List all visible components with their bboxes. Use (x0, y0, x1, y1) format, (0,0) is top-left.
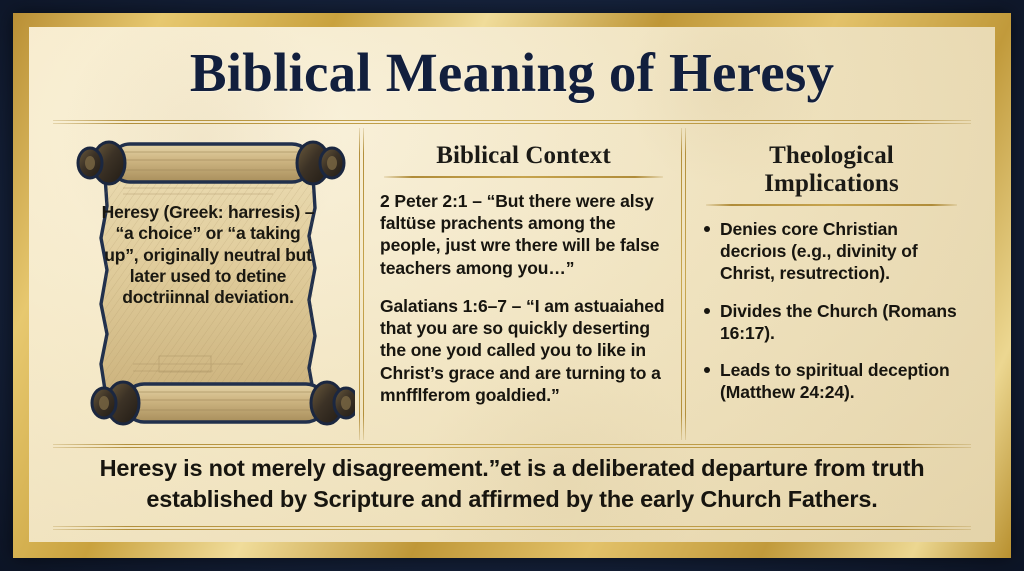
passage-2-peter: 2 Peter 2:1 – “But there were alsy faltü… (380, 190, 667, 279)
footer-summary: Heresy is not merely disagreement.”et is… (75, 453, 949, 515)
bullet-dot-icon (704, 367, 710, 373)
footer-line-1: Heresy is not merely disagreement.”et is… (75, 453, 949, 484)
theological-implications-heading-rule (706, 204, 957, 206)
divider-above-footer (53, 444, 971, 448)
list-item: Leads to spiritual deception (Matthew 24… (702, 359, 961, 403)
footer-line-2: established by Scripture and affirmed by… (75, 484, 949, 515)
list-item-label: Divides the Church (Romans 16:17). (720, 301, 957, 343)
divider-below-footer (53, 526, 971, 530)
biblical-context-heading: Biblical Context (380, 142, 667, 170)
bullet-dot-icon (704, 226, 710, 232)
parchment-sheet: Biblical Meaning of Heresy (29, 27, 995, 542)
biblical-context-heading-rule (384, 176, 663, 178)
page-title: Biblical Meaning of Heresy (29, 41, 995, 104)
bullet-dot-icon (704, 308, 710, 314)
columns-container: Heresy (Greek: harresis) – “a choice” or… (53, 126, 971, 442)
column-definition: Heresy (Greek: harresis) – “a choice” or… (53, 126, 359, 442)
list-item-label: Leads to spiritual deception (Matthew 24… (720, 360, 950, 402)
column-theological-implications: Theological Implications Denies core Chr… (686, 126, 971, 442)
infographic-card: Biblical Meaning of Heresy (0, 0, 1024, 571)
divider-under-title (53, 120, 971, 124)
list-item: Denies core Christian decrioıs (e.g., di… (702, 218, 961, 285)
passage-galatians: Galatians 1:6–7 – “I am astuaiahed that … (380, 295, 667, 406)
scroll-illustration: Heresy (Greek: harresis) – “a choice” or… (63, 128, 355, 440)
implications-list: Denies core Christian decrioıs (e.g., di… (702, 218, 961, 404)
column-biblical-context: Biblical Context 2 Peter 2:1 – “But ther… (364, 126, 681, 442)
definition-text: Heresy (Greek: harresis) – “a choice” or… (99, 202, 317, 309)
list-item: Divides the Church (Romans 16:17). (702, 300, 961, 344)
theological-implications-heading: Theological Implications (702, 142, 961, 198)
list-item-label: Denies core Christian decrioıs (e.g., di… (720, 219, 918, 283)
